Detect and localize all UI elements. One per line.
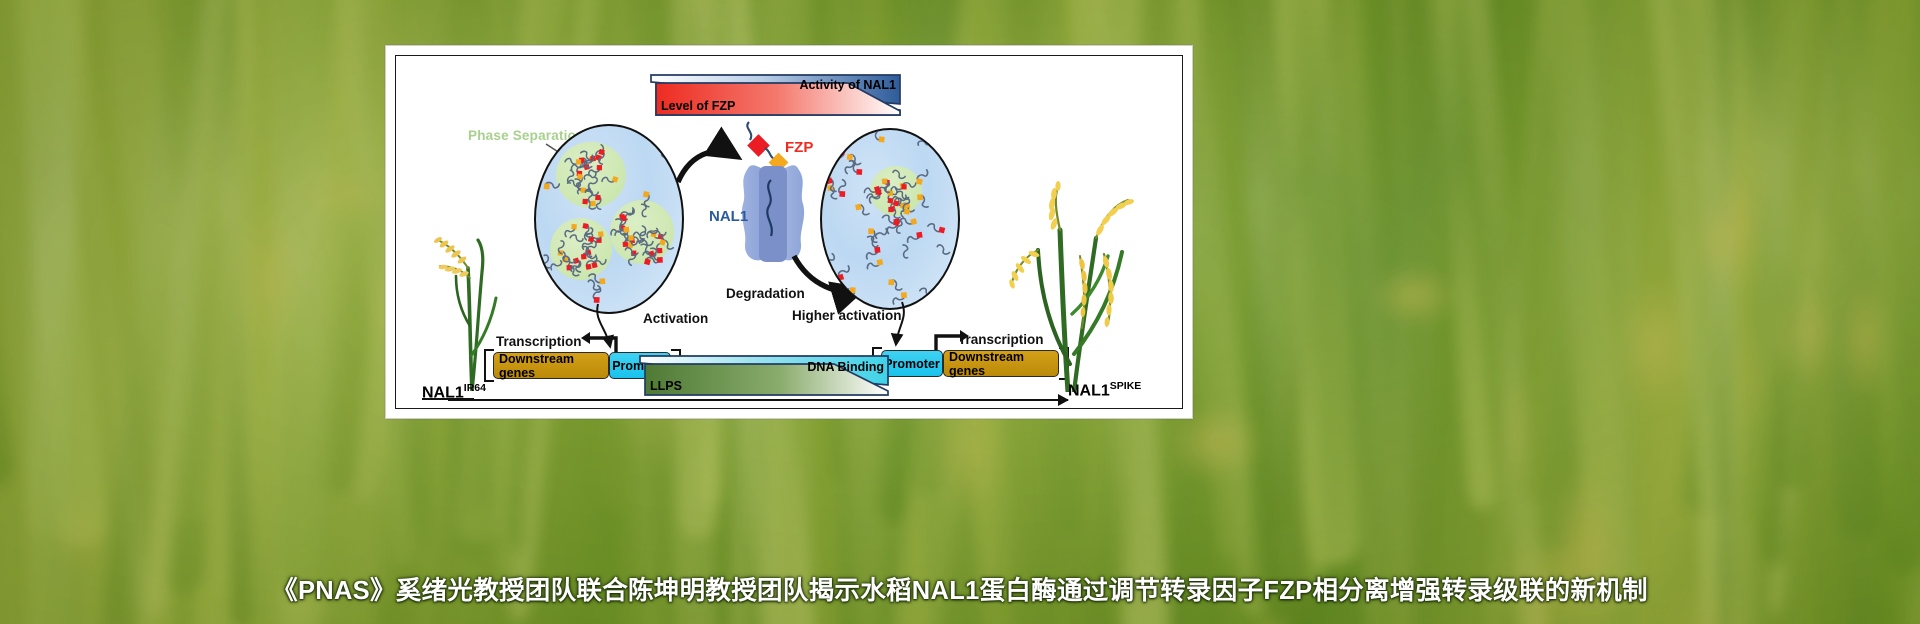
degradation-label: Degradation xyxy=(726,286,805,301)
level-of-fzp-label: Level of FZP xyxy=(661,99,735,113)
allele-axis-arrow xyxy=(448,399,1068,401)
nal1-ir64-base: NAL1 xyxy=(422,384,464,401)
nal1-spike-base: NAL1 xyxy=(1068,382,1110,399)
figure-inner-border: Activity of NAL1 Level of FZP Phase Sepa… xyxy=(395,55,1183,409)
nal1-spike-label: NAL1SPIKE xyxy=(1068,380,1141,400)
nal1-label: NAL1 xyxy=(709,208,748,225)
llps-label: LLPS xyxy=(650,379,682,393)
rice-plant-small xyxy=(426,206,510,391)
cell-left-molecules xyxy=(536,126,682,312)
figure-canvas: Activity of NAL1 Level of FZP Phase Sepa… xyxy=(396,56,1184,410)
fzp-label: FZP xyxy=(785,139,813,156)
cell-right-dispersed xyxy=(820,128,960,310)
nal1-ir64-sup: IR64 xyxy=(464,382,486,394)
activity-of-nal1-label: Activity of NAL1 xyxy=(799,78,896,92)
nal1-ir64-label: NAL1IR64 xyxy=(422,382,486,402)
activation-label: Activation xyxy=(643,311,708,326)
cell-left-phase-separated xyxy=(534,124,684,314)
figure-panel: Activity of NAL1 Level of FZP Phase Sepa… xyxy=(385,45,1193,419)
dna-binding-label: DNA Binding xyxy=(807,360,884,374)
nal1-protein xyxy=(741,158,805,266)
bottom-gradient-bars: DNA Binding LLPS xyxy=(636,352,892,398)
cell-right-molecules xyxy=(822,130,958,308)
downstream-genes-box: Downstream genes xyxy=(493,352,609,379)
article-caption: 《PNAS》奚绪光教授团队联合陈坤明教授团队揭示水稻NAL1蛋白酶通过调节转录因… xyxy=(0,560,1920,616)
rice-plant-large xyxy=(1004,164,1150,392)
top-gradient-bars: Activity of NAL1 Level of FZP xyxy=(648,70,903,118)
higher-activation-label: Higher activation xyxy=(792,308,902,323)
nal1-spike-sup: SPIKE xyxy=(1110,380,1142,392)
